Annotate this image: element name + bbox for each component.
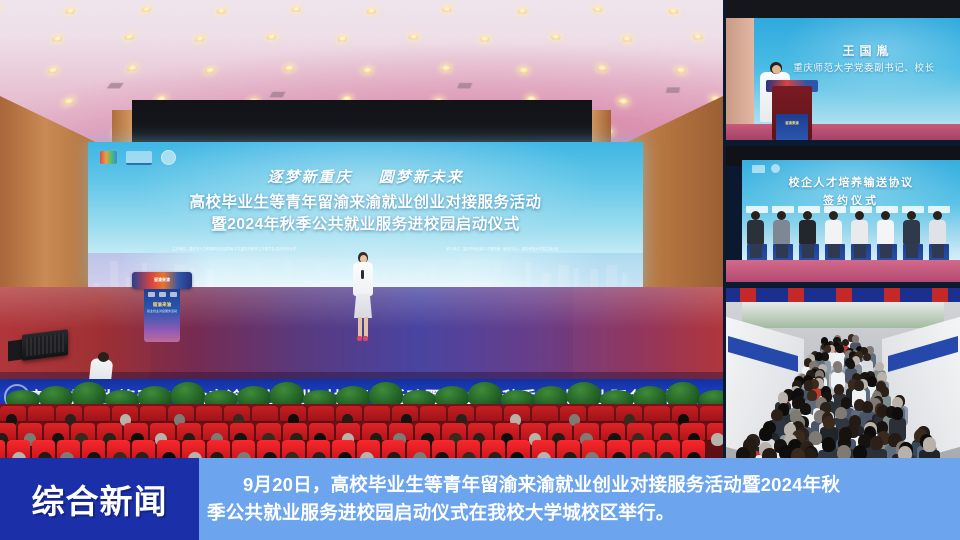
skyline-building [286,261,291,287]
ceiling-light-icon [195,36,206,41]
ceiling-vent [666,87,680,93]
signatory [747,211,764,258]
chongqing-logo-icon [126,151,152,165]
speaker-face [772,65,781,74]
job-fair-attendee [923,437,937,452]
job-fair-attendee [823,416,835,429]
signatory-legs [880,244,892,258]
audience-seat [364,406,390,421]
university-seal-icon [161,150,176,165]
skyline-building [414,271,425,287]
category-badge-label: 综合新闻 [32,475,168,523]
red-banner [884,288,900,302]
speaker-role: 重庆师范大学党委副书记、校长 [766,60,960,74]
news-screenshot: 逐梦新重庆 圆梦新未来 高校毕业生等青年留渝来渝就业创业对接服务活动 暨2024… [0,0,960,540]
signatory-legs [906,244,918,258]
signatory-shirt [825,220,842,244]
job-fair-attendee [791,448,805,458]
audience-seat [700,406,723,421]
skyline-building [494,261,502,287]
ceiling-light-icon [480,36,489,41]
government-emblem-icon [100,151,117,164]
job-fair-attendee [892,407,904,420]
ceiling-light-icon [441,66,451,71]
ceiling-light-icon [141,7,152,12]
audience-seat [588,406,614,421]
audience-seat [420,406,446,421]
crew-head [98,352,109,362]
side-wall [726,18,756,140]
signatory-head [933,211,942,220]
ceiling-light-icon [551,34,561,39]
podium-top-label: 留渝来渝 [132,277,192,283]
podium-sign-label: 留渝来渝 [776,114,808,125]
stage-host [350,252,376,344]
ceiling-light-icon [216,9,226,14]
signatory [851,211,868,258]
podium-sign: 留渝来渝 [776,114,808,140]
skyline-building [382,267,387,287]
signatory-legs [828,244,840,258]
ceiling-light-icon [597,66,607,71]
audience-seat [308,406,334,421]
photo-speaker-podium: 王国胤 重庆师范大学党委副书记、校长 留渝来渝 [726,0,960,140]
ceiling-light-icon [47,68,59,73]
job-fair-attendee [759,427,772,441]
skyline-building [398,266,406,287]
signatory-head [751,211,760,220]
audience-seat [252,406,278,421]
skyline-building [430,263,435,287]
signatory-shirt [877,220,894,244]
host-skirt [354,294,372,318]
signing-title-line1: 校企人才培养输送协议 [742,174,960,190]
signatory-shirt [851,220,868,244]
job-fair-attendee [870,436,883,451]
ceiling-light-icon [283,66,294,71]
caption-line-2: 季公共就业服务进校园启动仪式在我校大学城校区举行。 [207,499,936,527]
ceiling-light-icon [266,34,276,39]
podium-panel-title: 留渝来渝 就业创业对接服务活动 [144,302,180,313]
ceiling-light-icon [65,9,76,14]
skyline-building [270,280,281,287]
microphone-icon [361,270,364,279]
ceiling-light-icon [204,68,215,73]
podium-body: 留渝来渝 就业创业对接服务活动 [144,289,180,342]
ceiling-light-icon [442,7,451,12]
signatory-head [907,211,916,220]
host-jacket [353,262,373,296]
ceiling-light-icon [367,9,377,14]
audience-seat [28,406,54,421]
ceiling-light-icon [62,99,74,105]
skyline-building [446,277,454,287]
red-banner [932,288,948,302]
screen-title: 高校毕业生等青年留渝来渝就业创业对接服务活动 暨2024年秋季公共就业服务进校园… [88,192,643,236]
skyline-building [558,265,569,287]
host-leg [364,317,368,337]
signatory-head [881,211,890,220]
job-fair-attendee [875,362,884,371]
job-fair-attendee [771,409,783,422]
job-fair-attendee [847,360,856,369]
ceiling-light-icon [593,7,603,12]
stage-podium: 留渝来渝 留渝来渝 就业创业对接服务活动 [132,272,192,342]
signatory [825,211,842,258]
audience-seat [0,440,5,458]
job-fair-attendee [778,392,789,403]
signatory-legs [932,244,944,258]
job-fair-attendee [837,445,851,458]
host-shoe [357,336,362,341]
skyline-building [110,261,118,287]
skyline-building [206,269,214,287]
screen-slogan: 逐梦新重庆 圆梦新未来 [88,166,643,187]
signatory-legs [776,244,788,258]
ceiling-light-icon [622,36,632,41]
job-fair-attendee [815,352,823,361]
signatory-shirt [747,220,764,244]
signatory-shirt [929,220,946,244]
job-fair-attendee [854,380,864,391]
podium-panel-sub: 就业创业对接服务活动 [144,309,180,314]
signatory [929,211,946,258]
signatory-legs [854,244,866,258]
signatory-legs [750,244,762,258]
ceiling-light-icon [693,34,703,39]
job-fair-attendee [822,437,836,452]
job-fair-attendee [862,401,873,413]
speaker-name: 王国胤 [778,42,958,59]
job-fair-attendee [852,335,859,342]
caption-line-1: 9月20日，高校毕业生等青年留渝来渝就业创业对接服务活动暨2024年秋 [207,471,936,499]
job-fair-attendee [836,345,844,353]
photo-job-fair [726,288,960,458]
skyline-building [590,269,598,287]
ceiling-light-icon [409,34,419,39]
skyline-building [606,265,617,287]
ceiling-vent [107,83,124,89]
skyline-building [334,275,339,287]
red-banner [788,288,804,302]
skyline-building [526,262,531,287]
skyline-building [622,273,627,287]
right-photo-column: 王国胤 重庆师范大学党委副书记、校长 留渝来渝 校企人才培养输送协议 签约仪式 [726,0,960,458]
ceiling-light-icon [619,99,630,105]
host-leg [358,317,362,337]
ceiling-light-icon [668,9,678,14]
signatory-shirt [799,220,816,244]
ceiling-light-icon [0,7,1,12]
photo-signing-ceremony: 校企人才培养输送协议 签约仪式 [726,146,960,282]
screen-title-line2: 暨2024年秋季公共就业服务进校园启动仪式 [88,214,643,236]
ceiling-light-icon [676,68,687,73]
job-fair-attendee [762,448,776,458]
ceiling-light-icon [362,68,372,73]
ceiling-light-icon [126,66,137,71]
signatory-shirt [903,220,920,244]
audience-seat [532,406,558,421]
stage-floor [726,260,960,282]
signatory [877,211,894,258]
red-banner [836,288,852,302]
slogan-left: 逐梦新重庆 [267,166,352,187]
skyline-building [222,264,233,287]
signatory [773,211,790,258]
audience-seat [84,406,110,421]
skyline-building [318,262,329,287]
hall-window [742,302,944,328]
skyline-building [574,268,579,287]
audience-seat [196,406,222,421]
caption-bar: 综合新闻 9月20日，高校毕业生等青年留渝来渝就业创业对接服务活动暨2024年秋… [0,458,960,540]
audience-seat [644,406,670,421]
signatory-head [803,211,812,220]
signatory-row [742,206,960,268]
ceiling-vent [269,92,285,98]
credit-organizer: 主办单位：重庆市人力资源和社会保障局 中共重庆市教育工作委员会 重庆师范大学 [172,247,296,252]
screen-logos [100,150,176,165]
credit-host: 承办单位：重庆市就业和人才服务局（就业中心） 重庆师范大学招生就业处 [446,247,559,252]
ceiling-light-icon [292,7,302,12]
audience-seat [140,406,166,421]
signatory-legs [802,244,814,258]
audience-seat [476,406,502,421]
signatory-head [829,211,838,220]
ceiling-light-icon [337,36,347,41]
host-shoe [363,336,368,341]
signatory-head [855,211,864,220]
skyline-building [254,262,262,287]
caption-text: 9月20日，高校毕业生等青年留渝来渝就业创业对接服务活动暨2024年秋 季公共就… [199,458,960,540]
skyline-building [238,274,243,287]
skyline-building [462,261,473,287]
red-banner [740,288,756,302]
category-badge: 综合新闻 [0,458,199,540]
stage-floor [726,124,960,140]
ceiling-light-icon [124,34,135,39]
signatory [903,211,920,258]
ceiling-vent [457,83,472,89]
job-fair-attendee [835,407,847,419]
skyline-building [542,273,550,287]
signatory [799,211,816,258]
job-fair-attendee [898,446,912,458]
podium-panel-title-text: 留渝来渝 [153,302,171,307]
screen-logo-row [752,164,780,173]
audience-member [711,433,723,446]
signatory-head [777,211,786,220]
skyline-building [510,278,521,287]
ceiling-light-icon [518,9,527,14]
job-fair-attendee [853,445,867,458]
job-fair-attendee [863,353,871,362]
podium-top-banner: 留渝来渝 [132,272,192,289]
ceiling-light-icon [519,68,529,73]
slogan-right: 圆梦新未来 [379,166,464,187]
audience-seating [0,404,723,458]
podium-logo-row [144,292,180,297]
signatory-shirt [773,220,790,244]
main-photo: 逐梦新重庆 圆梦新未来 高校毕业生等青年留渝来渝就业创业对接服务活动 暨2024… [0,0,723,458]
screen-title-line1: 高校毕业生等青年留渝来渝就业创业对接服务活动 [88,192,643,214]
ceiling-light-icon [52,36,63,41]
